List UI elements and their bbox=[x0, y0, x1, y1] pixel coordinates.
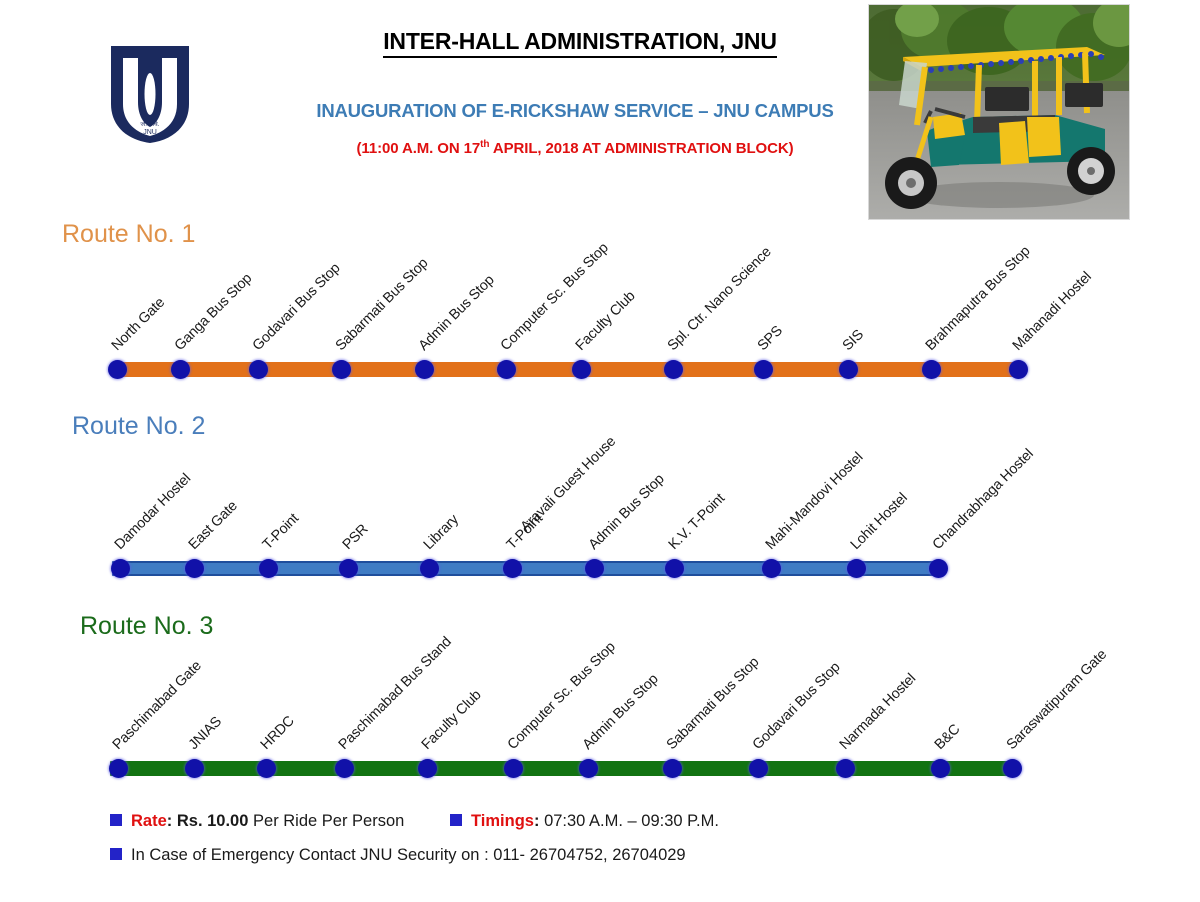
stop-dot[interactable] bbox=[335, 759, 354, 778]
event-datetime-pre: (11:00 A.M. ON 17 bbox=[357, 140, 481, 157]
rate-value: Rs. 10.00 bbox=[177, 812, 249, 830]
stop-label: East Gate bbox=[186, 498, 241, 553]
stop-dot[interactable] bbox=[929, 559, 948, 578]
timings-label: Timings bbox=[471, 812, 534, 830]
route-line-3 bbox=[110, 761, 1016, 776]
stop-dot[interactable] bbox=[109, 759, 128, 778]
stop-dot[interactable] bbox=[1003, 759, 1022, 778]
stop-dot[interactable] bbox=[1009, 360, 1028, 379]
e-rickshaw-photo bbox=[868, 4, 1130, 220]
rate-suffix: Per Ride Per Person bbox=[248, 812, 404, 830]
stop-label: Sabarmati Bus Stop bbox=[664, 654, 763, 753]
stop-label: Saraswatipuram Gate bbox=[1004, 647, 1110, 753]
event-datetime-ordinal: th bbox=[480, 139, 489, 150]
stop-label: Library bbox=[421, 512, 462, 553]
stop-label: SIS bbox=[840, 327, 867, 354]
stop-label: Lohit Hostel bbox=[848, 490, 911, 553]
stop-label: SPS bbox=[755, 323, 786, 354]
stop-label: HRDC bbox=[258, 713, 298, 753]
emergency-text: In Case of Emergency Contact JNU Securit… bbox=[131, 846, 686, 864]
page-subtitle: INAUGURATION OF E-RICKSHAW SERVICE – JNU… bbox=[285, 100, 865, 122]
stop-label: Admin Bus Stop bbox=[586, 471, 668, 553]
stop-dot[interactable] bbox=[585, 559, 604, 578]
stop-label: Admin Bus Stop bbox=[416, 272, 498, 354]
rate-separator: : bbox=[167, 812, 177, 830]
stop-dot[interactable] bbox=[418, 759, 437, 778]
route-title-2: Route No. 2 bbox=[72, 412, 205, 441]
stop-label: JNIAS bbox=[186, 714, 225, 753]
timings-separator: : bbox=[534, 812, 544, 830]
route-title-3: Route No. 3 bbox=[80, 612, 213, 641]
stop-label: Sabarmati Bus Stop bbox=[333, 255, 432, 354]
footer-emergency-row: In Case of Emergency Contact JNU Securit… bbox=[110, 846, 686, 865]
stop-dot[interactable] bbox=[332, 360, 351, 379]
stop-dot[interactable] bbox=[420, 559, 439, 578]
stop-dot[interactable] bbox=[504, 759, 523, 778]
stop-dot[interactable] bbox=[497, 360, 516, 379]
footer-timings-row: Timings: 07:30 A.M. – 09:30 P.M. bbox=[450, 812, 719, 831]
stop-dot[interactable] bbox=[762, 559, 781, 578]
stop-dot[interactable] bbox=[839, 360, 858, 379]
rate-label: Rate bbox=[131, 812, 167, 830]
stop-label: Faculty Club bbox=[573, 288, 639, 354]
stop-label: Faculty Club bbox=[419, 687, 485, 753]
stop-label: Admin Bus Stop bbox=[580, 671, 662, 753]
stop-dot[interactable] bbox=[836, 759, 855, 778]
stop-dot[interactable] bbox=[415, 360, 434, 379]
stop-label-secondary: Aravali Guest House bbox=[518, 434, 619, 535]
stop-dot[interactable] bbox=[931, 759, 950, 778]
stop-label: PSR bbox=[340, 521, 372, 553]
stop-dot[interactable] bbox=[108, 360, 127, 379]
bullet-square-icon bbox=[450, 814, 462, 826]
logo-text-bottom: JNU bbox=[143, 129, 157, 136]
logo-text-top: ज.ने.वि. bbox=[140, 120, 159, 128]
page-title: INTER-HALL ADMINISTRATION, JNU bbox=[300, 28, 860, 55]
stop-label: Narmada Hostel bbox=[837, 671, 919, 753]
bullet-square-icon bbox=[110, 814, 122, 826]
footer-rate-row: Rate: Rs. 10.00 Per Ride Per Person bbox=[110, 812, 404, 831]
stop-dot[interactable] bbox=[185, 759, 204, 778]
stop-label: Damodar Hostel bbox=[112, 471, 194, 553]
jnu-shield-logo: ज.ने.वि. JNU bbox=[107, 42, 193, 146]
timings-value: 07:30 A.M. – 09:30 P.M. bbox=[544, 812, 719, 830]
stop-dot[interactable] bbox=[111, 559, 130, 578]
stop-dot[interactable] bbox=[185, 559, 204, 578]
stop-dot[interactable] bbox=[579, 759, 598, 778]
stop-dot[interactable] bbox=[664, 360, 683, 379]
route-line-2 bbox=[112, 561, 944, 576]
stop-dot[interactable] bbox=[922, 360, 941, 379]
stop-label: Godavari Bus Stop bbox=[250, 260, 344, 354]
stop-label: North Gate bbox=[109, 295, 168, 354]
stop-dot[interactable] bbox=[257, 759, 276, 778]
stop-label: Chandrabhaga Hostel bbox=[930, 446, 1037, 553]
bullet-square-icon bbox=[110, 848, 122, 860]
stop-dot[interactable] bbox=[339, 559, 358, 578]
stop-label: K.V. T-Point bbox=[666, 491, 728, 553]
stop-dot[interactable] bbox=[259, 559, 278, 578]
poster-page: ज.ने.वि. JNU INTER-HALL ADMINISTRATION, … bbox=[0, 0, 1200, 902]
stop-dot[interactable] bbox=[665, 559, 684, 578]
stop-label: B&C bbox=[932, 721, 964, 753]
stop-label: Ganga Bus Stop bbox=[172, 270, 256, 354]
event-datetime-post: APRIL, 2018 AT ADMINISTRATION BLOCK) bbox=[489, 140, 793, 157]
event-datetime: (11:00 A.M. ON 17th APRIL, 2018 AT ADMIN… bbox=[285, 139, 865, 157]
stop-dot[interactable] bbox=[503, 559, 522, 578]
stop-dot[interactable] bbox=[572, 360, 591, 379]
route-title-1: Route No. 1 bbox=[62, 220, 195, 249]
stop-dot[interactable] bbox=[754, 360, 773, 379]
stop-dot[interactable] bbox=[171, 360, 190, 379]
stop-label: T-Point bbox=[260, 511, 302, 553]
stop-label: Mahanadi Hostel bbox=[1010, 269, 1095, 354]
stop-dot[interactable] bbox=[847, 559, 866, 578]
stop-dot[interactable] bbox=[663, 759, 682, 778]
stop-dot[interactable] bbox=[249, 360, 268, 379]
stop-dot[interactable] bbox=[749, 759, 768, 778]
page-title-text: INTER-HALL ADMINISTRATION, JNU bbox=[383, 28, 777, 58]
stop-label: Godavari Bus Stop bbox=[750, 659, 844, 753]
